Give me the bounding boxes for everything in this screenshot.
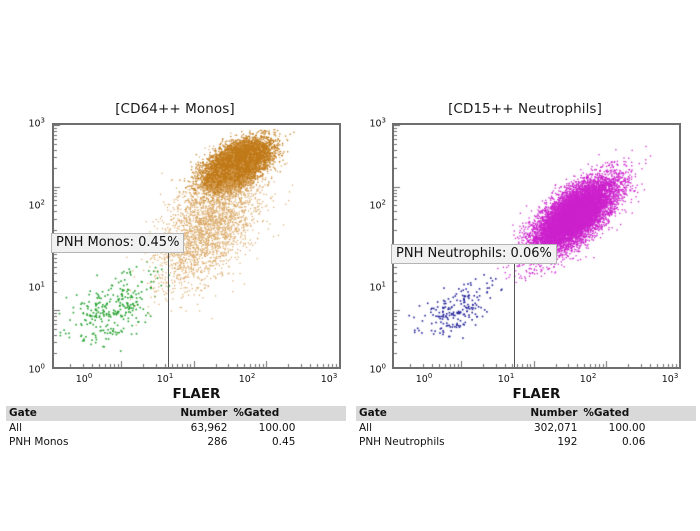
cell-number: 192 [499, 435, 581, 449]
col-header-number: Number [499, 406, 581, 421]
cell-gate: PNH Monos [6, 435, 149, 449]
table-row: PNH Neutrophils 192 0.06 [356, 435, 696, 449]
stats-table-neutrophils: Gate Number %Gated All 302,071 100.00 PN… [356, 406, 696, 449]
cell-gated: 100.00 [230, 421, 298, 435]
col-header-gate: Gate [6, 406, 149, 421]
plot-panel-neutrophils: [CD15++ Neutrophils] CD24-PE FLAER 103 1… [350, 0, 700, 475]
col-header-gated: %Gated [580, 406, 648, 421]
table-header-row: Gate Number %Gated [6, 406, 346, 421]
y-tick-right-1: 102 [369, 198, 386, 211]
x-tick-right-0: 100 [416, 372, 433, 385]
y-tick-left-0: 103 [28, 116, 45, 129]
cell-gated: 0.45 [230, 435, 298, 449]
y-tick-right-3: 100 [369, 362, 386, 375]
cell-gate: PNH Neutrophils [356, 435, 499, 449]
cell-spacer [648, 421, 696, 435]
cell-spacer [298, 435, 346, 449]
y-tick-group-left: 103 102 101 100 [0, 0, 50, 475]
y-tick-right-2: 101 [369, 280, 386, 293]
x-tick-left-1: 101 [157, 372, 174, 385]
x-tick-right-3: 103 [662, 372, 679, 385]
y-tick-group-right: 103 102 101 100 [350, 0, 390, 475]
cell-gate: All [356, 421, 499, 435]
x-tick-right-2: 102 [580, 372, 597, 385]
table-row: PNH Monos 286 0.45 [6, 435, 346, 449]
plot-title-left: [CD64++ Monos] [0, 101, 350, 117]
plot-title-right: [CD15++ Neutrophils] [350, 101, 700, 117]
y-tick-left-3: 100 [28, 362, 45, 375]
cell-spacer [648, 435, 696, 449]
col-header-gated: %Gated [230, 406, 298, 421]
col-header-number: Number [149, 406, 231, 421]
cell-number: 302,071 [499, 421, 581, 435]
y-tick-left-2: 101 [28, 280, 45, 293]
cell-spacer [298, 421, 346, 435]
col-header-spacer [648, 406, 696, 421]
col-header-gate: Gate [356, 406, 499, 421]
x-tick-left-0: 100 [76, 372, 93, 385]
x-tick-left-2: 102 [239, 372, 256, 385]
table-header-row: Gate Number %Gated [356, 406, 696, 421]
cell-number: 63,962 [149, 421, 231, 435]
cell-gated: 100.00 [580, 421, 648, 435]
table-row: All 302,071 100.00 [356, 421, 696, 435]
x-tick-left-3: 103 [321, 372, 338, 385]
x-axis-label-left: FLAER [52, 386, 341, 402]
cell-gated: 0.06 [580, 435, 648, 449]
y-tick-left-1: 102 [28, 198, 45, 211]
table-row: All 63,962 100.00 [6, 421, 346, 435]
x-axis-label-right: FLAER [392, 386, 681, 402]
y-tick-right-0: 103 [369, 116, 386, 129]
x-tick-right-1: 101 [498, 372, 515, 385]
gate-label-neutrophils[interactable]: PNH Neutrophils: 0.06% [391, 244, 557, 264]
cell-number: 286 [149, 435, 231, 449]
cell-gate: All [6, 421, 149, 435]
stats-table-monos: Gate Number %Gated All 63,962 100.00 PNH… [6, 406, 346, 449]
gate-label-monos[interactable]: PNH Monos: 0.45% [51, 233, 184, 253]
plot-panel-monos: [CD64++ Monos] CD14 APC700 FLAER 103 102… [0, 0, 350, 475]
col-header-spacer [298, 406, 346, 421]
